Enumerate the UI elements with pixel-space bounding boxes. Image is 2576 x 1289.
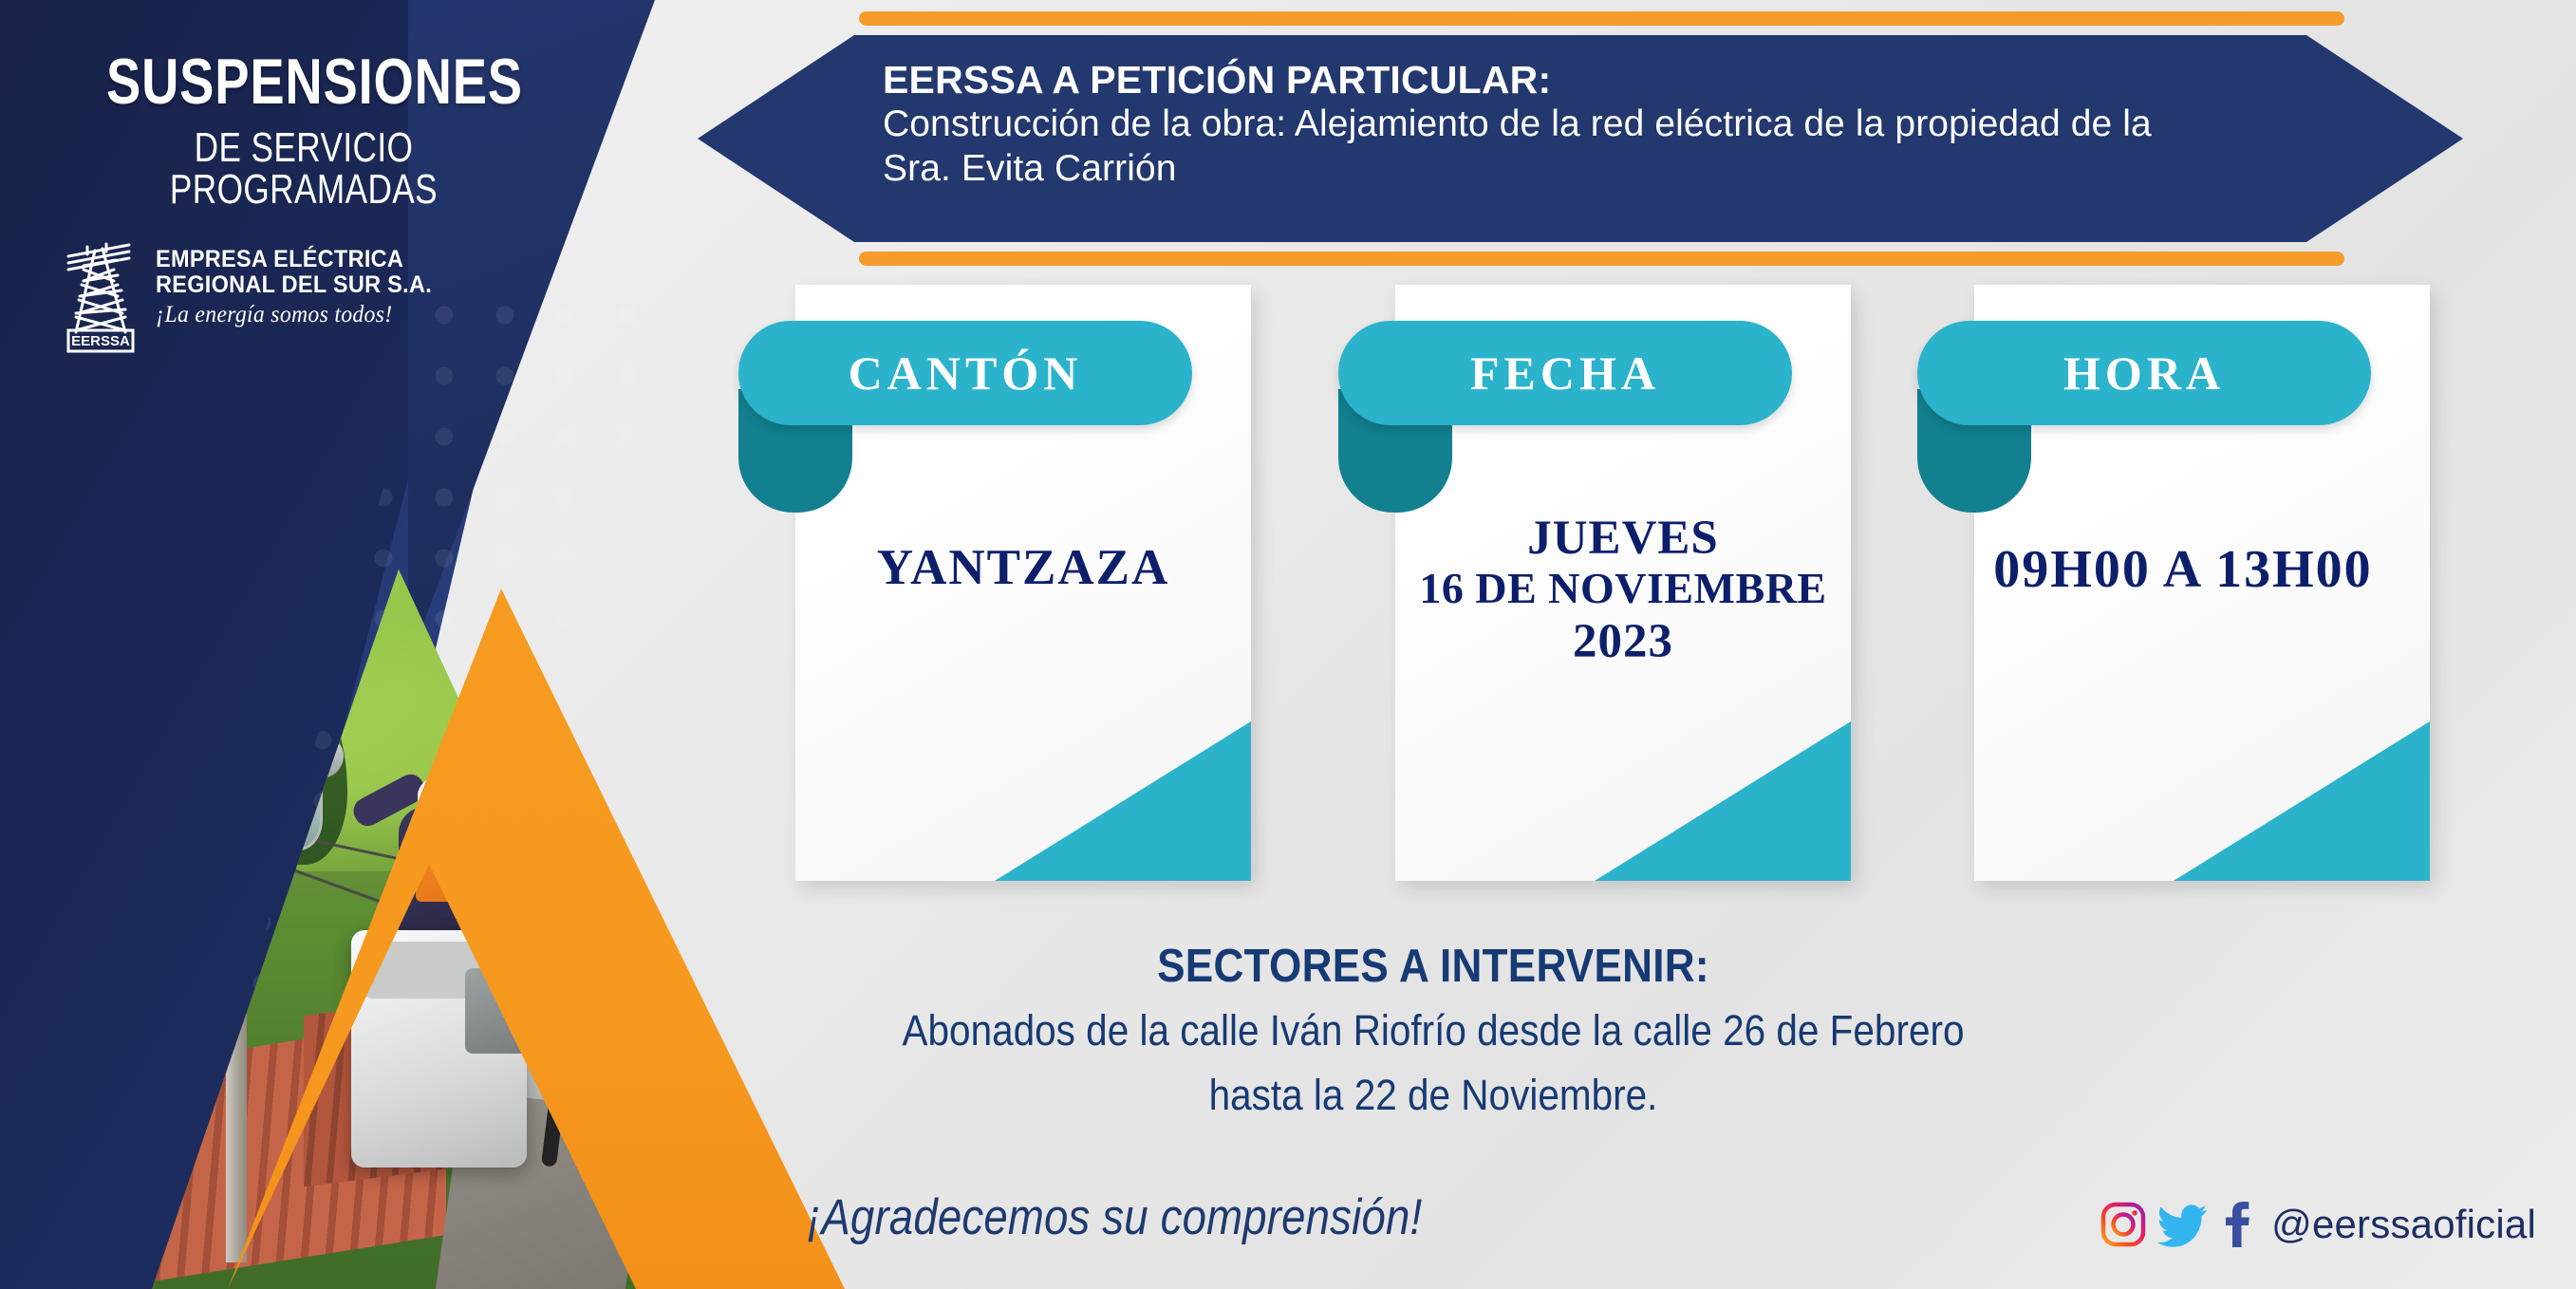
facebook-icon[interactable] xyxy=(2218,1200,2252,1249)
fecha-date: 16 DE NOVIEMBRE xyxy=(1395,564,1851,613)
card-label-pill: FECHA xyxy=(1338,321,1792,425)
card-label-text: CANTÓN xyxy=(849,346,1083,401)
social-handle[interactable]: @eerssaoficial xyxy=(2271,1202,2536,1247)
banner-body-line-1: Construcción de la obra: Alejamiento de … xyxy=(883,103,2325,147)
poster-canvas: SUSPENSIONES DE SERVICIO PROGRAMADAS xyxy=(0,0,2576,1289)
sectors-title: SECTORES A INTERVENIR: xyxy=(741,940,2125,993)
social-links: @eerssaoficial xyxy=(2099,1200,2536,1249)
card-label-text: FECHA xyxy=(1470,346,1660,401)
card-hora: HORA 09H00 A 13H00 xyxy=(1917,285,2373,881)
sectors-section: SECTORES A INTERVENIR: Abonados de la ca… xyxy=(664,940,2202,1123)
banner-bottom-rule xyxy=(859,252,2344,266)
card-value-canton: YANTZAZA xyxy=(795,539,1251,596)
banner-title: EERSSA A PETICIÓN PARTICULAR: xyxy=(883,57,2325,103)
fecha-year: 2023 xyxy=(1395,613,1851,670)
banner-top-rule xyxy=(859,11,2344,26)
card-value-fecha: JUEVES 16 DE NOVIEMBRE 2023 xyxy=(1395,513,1851,670)
card-label-text: HORA xyxy=(2063,346,2225,401)
fecha-weekday: JUEVES xyxy=(1395,513,1851,564)
card-label-pill: HORA xyxy=(1917,321,2371,425)
thanks-message: ¡Agradecemos su comprensión! xyxy=(807,1188,1422,1246)
card-fecha: FECHA JUEVES 16 DE NOVIEMBRE 2023 xyxy=(1338,285,1794,881)
sectors-line-2: hasta la 22 de Noviembre. xyxy=(741,1069,2125,1122)
card-canton: CANTÓN YANTZAZA xyxy=(738,285,1194,881)
card-value-hora: 09H00 A 13H00 xyxy=(1889,539,2477,600)
twitter-icon[interactable] xyxy=(2157,1200,2209,1249)
sectors-line-1: Abonados de la calle Iván Riofrío desde … xyxy=(741,1004,2125,1057)
card-label-pill: CANTÓN xyxy=(738,321,1192,425)
banner-body-line-2: Sra. Evita Carrión xyxy=(883,147,2325,192)
header-banner: EERSSA A PETICIÓN PARTICULAR: Construcci… xyxy=(698,11,2463,266)
instagram-icon[interactable] xyxy=(2099,1200,2148,1249)
